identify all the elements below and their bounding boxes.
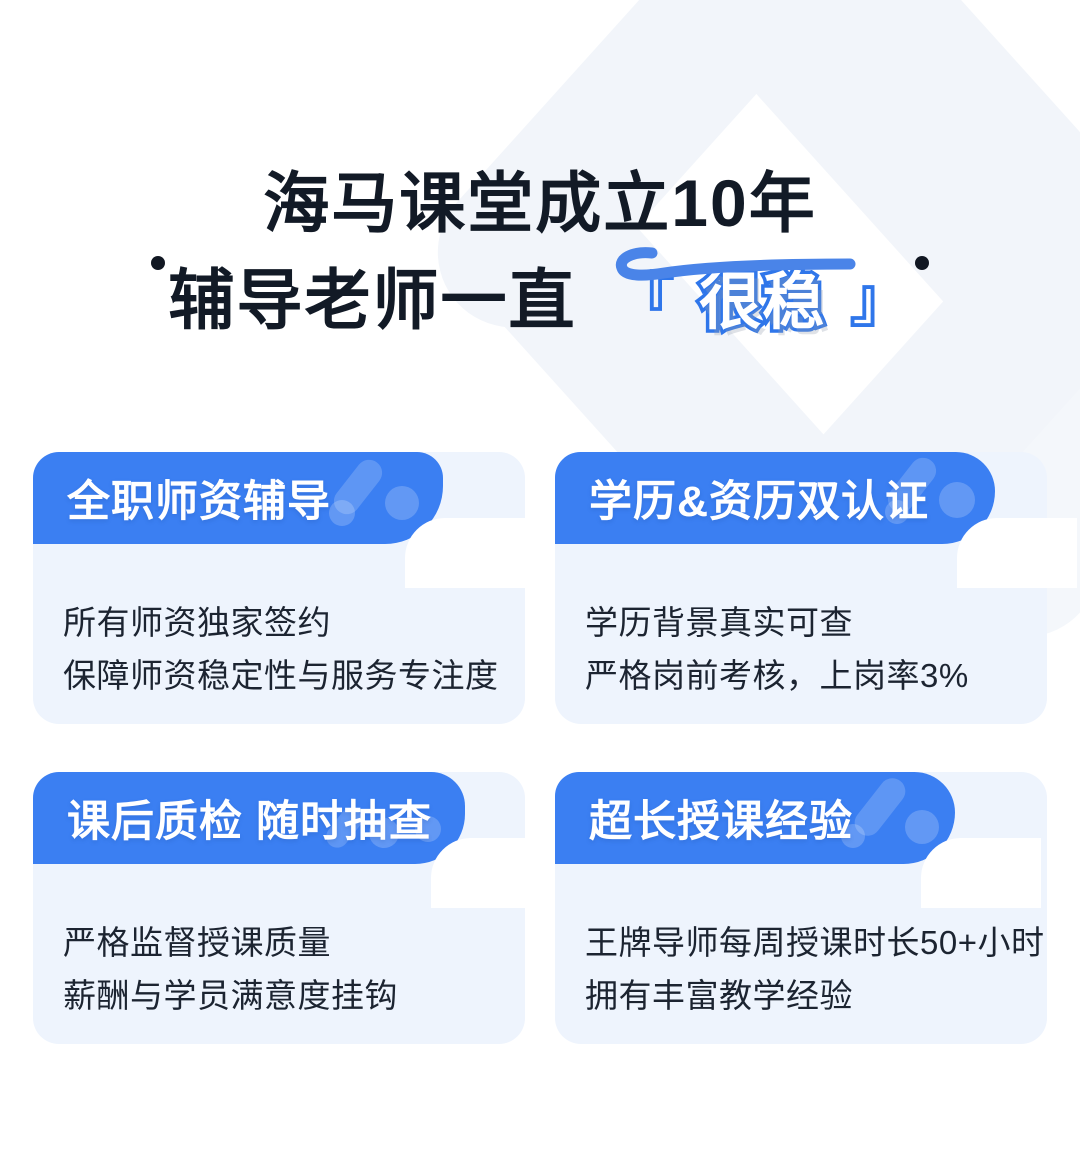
headline-line-1: 海马课堂成立10年 <box>0 160 1080 247</box>
deco-circle-icon <box>905 810 939 844</box>
feature-card[interactable]: 全职师资辅导 所有师资独家签约 保障师资稳定性与服务专注度 <box>33 452 525 724</box>
banner-notch <box>405 518 525 588</box>
accent-dot-right <box>915 256 929 270</box>
card-line: 拥有丰富教学经验 <box>585 969 1017 1022</box>
card-line: 保障师资稳定性与服务专注度 <box>63 649 495 702</box>
card-line: 严格岗前考核，上岗率3% <box>585 649 1017 702</box>
headline-line-1-text: 海马课堂成立10年 <box>263 166 816 240</box>
card-banner: 全职师资辅导 <box>33 452 443 544</box>
card-line: 严格监督授课质量 <box>63 916 495 969</box>
banner-notch <box>921 838 1041 908</box>
card-line: 所有师资独家签约 <box>63 596 495 649</box>
banner-notch <box>957 518 1077 588</box>
card-banner: 课后质检 随时抽查 <box>33 772 465 864</box>
bracket-right-icon: 』 <box>850 261 912 340</box>
headline-line-2: 辅导老师一直 『 很稳 』 <box>0 257 1080 344</box>
headline-highlight-group: 『 很稳 』 <box>615 257 912 344</box>
promo-poster: 海马课堂成立10年 辅导老师一直 『 很稳 』 全职师资辅导 <box>0 0 1080 1164</box>
card-title: 课后质检 随时抽查 <box>67 772 432 864</box>
card-line: 王牌导师每周授课时长50+小时 <box>585 916 1017 969</box>
card-title: 超长授课经验 <box>589 772 853 864</box>
feature-card[interactable]: 超长授课经验 王牌导师每周授课时长50+小时 拥有丰富教学经验 <box>555 772 1047 1044</box>
card-line: 薪酬与学员满意度挂钩 <box>63 969 495 1022</box>
card-line: 学历背景真实可查 <box>585 596 1017 649</box>
headline-block: 海马课堂成立10年 辅导老师一直 『 很稳 』 <box>0 160 1080 344</box>
feature-card[interactable]: 课后质检 随时抽查 严格监督授课质量 薪酬与学员满意度挂钩 <box>33 772 525 1044</box>
accent-dot-left <box>151 256 165 270</box>
card-banner: 超长授课经验 <box>555 772 955 864</box>
deco-circle-icon <box>385 486 419 520</box>
headline-line-2-prefix: 辅导老师一直 <box>168 263 576 337</box>
banner-notch <box>431 838 551 908</box>
feature-card[interactable]: 学历&资历双认证 学历背景真实可查 严格岗前考核，上岗率3% <box>555 452 1047 724</box>
card-title: 全职师资辅导 <box>67 452 331 544</box>
feature-card-grid: 全职师资辅导 所有师资独家签约 保障师资稳定性与服务专注度 学历&资历双认证 学… <box>33 452 1047 1044</box>
deco-pill-icon <box>329 455 388 520</box>
card-title: 学历&资历双认证 <box>589 452 929 544</box>
card-banner: 学历&资历双认证 <box>555 452 995 544</box>
deco-circle-icon <box>939 482 975 518</box>
bracket-left-icon: 『 <box>615 261 677 340</box>
deco-circle-icon <box>329 500 355 526</box>
headline-highlight: 很稳 <box>699 262 825 344</box>
deco-pill-icon <box>849 773 910 841</box>
